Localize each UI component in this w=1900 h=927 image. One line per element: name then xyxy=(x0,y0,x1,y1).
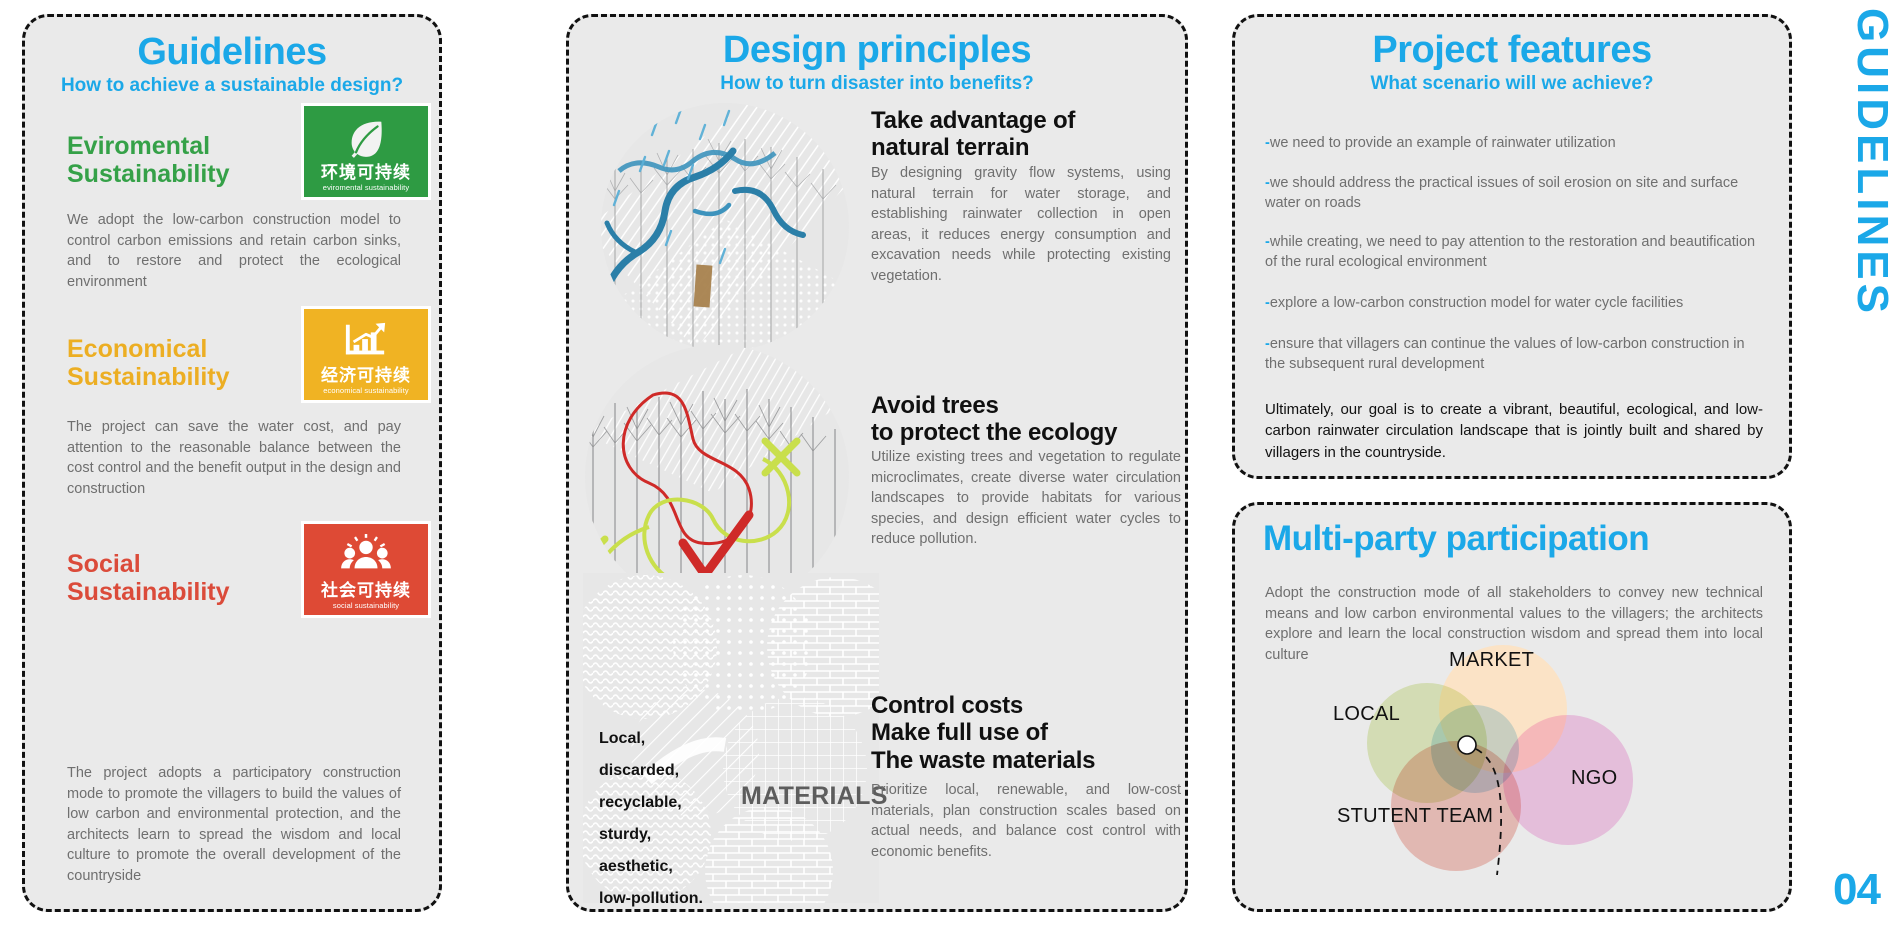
badge-cn-label: 社会可持续 xyxy=(321,583,411,600)
multi-party-panel: Multi-party participation Adopt the cons… xyxy=(1232,502,1792,912)
feature-bullet-1: -we need to provide an example of rainwa… xyxy=(1265,133,1763,153)
list-item: discarded, xyxy=(599,755,703,787)
page-number: 04 xyxy=(1833,865,1880,915)
badge-cn-label: 经济可持续 xyxy=(321,368,411,385)
design-principles-panel: Design principles How to turn disaster i… xyxy=(566,14,1188,912)
badge-economical-sustainability: 经济可持续 economical sustainability xyxy=(301,306,431,403)
pillar-title-line2: Sustainability xyxy=(67,363,230,391)
list-item: aesthetic, xyxy=(599,851,703,883)
section-rail-title: GUIDELINES xyxy=(1850,8,1894,317)
venn-connector-line xyxy=(1327,645,1707,875)
badge-social-sustainability: 社会可持续 social sustainability xyxy=(301,521,431,618)
principle-3-title: Control costs Make full use of The waste… xyxy=(871,692,1179,774)
list-item: sturdy, xyxy=(599,819,703,851)
pillar-body-social: The project adopts a participatory const… xyxy=(67,763,401,886)
badge-en-label: economical sustainability xyxy=(323,386,408,395)
principle-1-title: Take advantage of natural terrain xyxy=(871,107,1169,162)
bar-chart-growth-icon xyxy=(304,315,428,367)
pillar-body-economical: The project can save the water cost, and… xyxy=(67,417,401,499)
pillar-title-line1: Economical xyxy=(67,335,207,363)
principle-2-title: Avoid trees to protect the ecology xyxy=(871,392,1179,447)
guidelines-panel: Guidelines How to achieve a sustainable … xyxy=(22,14,442,912)
feature-bullet-5: -ensure that villagers can continue the … xyxy=(1265,334,1763,375)
principle-2-body: Utilize existing trees and vegetation to… xyxy=(871,447,1181,550)
pillar-body-environmental: We adopt the low-carbon construction mod… xyxy=(67,210,401,292)
pillar-title-line2: Sustainability xyxy=(67,160,230,188)
rain-over-forest-stream-diagram xyxy=(575,99,871,369)
pillar-title-line2: Sustainability xyxy=(67,578,230,606)
list-item: Local, xyxy=(599,723,703,755)
principle-1-body: By designing gravity flow systems, using… xyxy=(871,163,1171,286)
features-subtitle: What scenario will we achieve? xyxy=(1235,73,1789,96)
pillar-title-line1: Social xyxy=(67,550,141,578)
list-item: recyclable, xyxy=(599,787,703,819)
badge-environmental-sustainability: 环境可持续 eviromental sustainability xyxy=(301,103,431,200)
principle-3-body: Prioritize local, renewable, and low-cos… xyxy=(871,780,1181,862)
features-title: Project features xyxy=(1235,31,1789,69)
venn-label-market: MARKET xyxy=(1449,649,1534,672)
venn-label-ngo: NGO xyxy=(1571,767,1617,790)
pillar-title-line1: Eviromental xyxy=(67,132,210,160)
venn-label-student-team: STUTENT TEAM xyxy=(1337,805,1493,828)
multiparty-title: Multi-party participation xyxy=(1235,521,1789,556)
design-title: Design principles xyxy=(569,31,1185,69)
people-group-icon xyxy=(304,530,428,582)
list-item: low-pollution. xyxy=(599,883,703,909)
guidelines-title: Guidelines xyxy=(25,33,439,71)
badge-cn-label: 环境可持续 xyxy=(321,165,411,182)
materials-list: Local, discarded, recyclable, sturdy, ae… xyxy=(599,723,703,909)
features-conclusion: Ultimately, our goal is to create a vibr… xyxy=(1265,399,1763,463)
badge-en-label: social sustainability xyxy=(333,601,399,610)
poster-board: Guidelines How to achieve a sustainable … xyxy=(0,0,1900,927)
badge-en-label: eviromental sustainability xyxy=(323,183,409,192)
materials-heading: MATERIALS xyxy=(741,782,888,811)
project-features-panel: Project features What scenario will we a… xyxy=(1232,14,1792,479)
guidelines-subtitle: How to achieve a sustainable design? xyxy=(25,75,439,98)
feature-bullet-3: -while creating, we need to pay attentio… xyxy=(1265,232,1763,273)
venn-label-local: LOCAL xyxy=(1333,703,1400,726)
stakeholder-venn-diagram: MARKET LOCAL NGO STUTENT TEAM xyxy=(1327,645,1707,875)
design-subtitle: How to turn disaster into benefits? xyxy=(569,73,1185,96)
feature-bullet-2: -we should address the practical issues … xyxy=(1265,173,1763,214)
leaf-icon xyxy=(304,112,428,164)
feature-bullet-4: -explore a low-carbon construction model… xyxy=(1265,293,1763,313)
